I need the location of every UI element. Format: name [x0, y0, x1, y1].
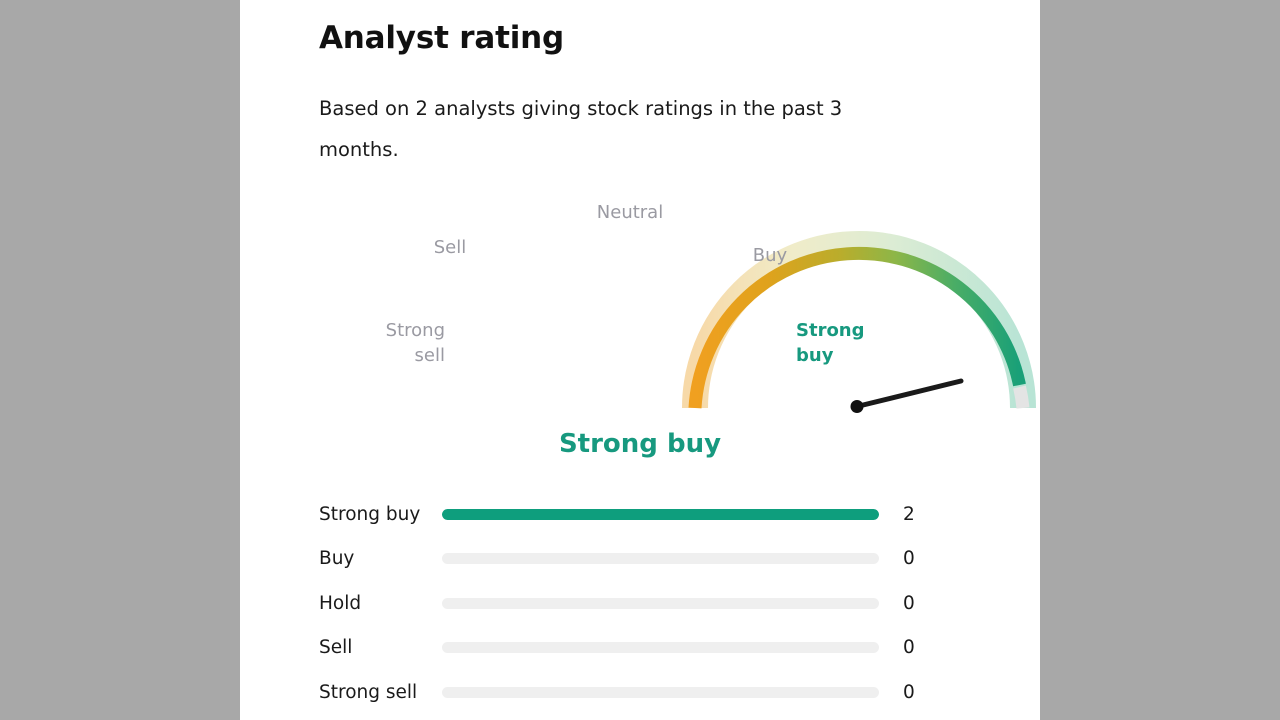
rating-row-strong-buy: Strong buy 2 [319, 492, 969, 537]
gauge-verdict-label: Strong buy [240, 429, 1040, 459]
rating-row-buy: Buy 0 [319, 537, 969, 582]
rating-count: 2 [903, 504, 915, 525]
rating-label: Strong buy [319, 504, 442, 525]
gauge-tick-strong-buy-line2: buy [796, 343, 906, 368]
gauge-tick-strong-sell-line1: Strong [335, 318, 445, 343]
gauge-tick-buy: Buy [730, 243, 810, 268]
rating-label: Buy [319, 548, 442, 569]
rating-bar-track [442, 642, 879, 653]
rating-row-strong-sell: Strong sell 0 [319, 670, 969, 715]
rating-count: 0 [903, 548, 915, 569]
gauge-tick-strong-buy-line1: Strong [796, 318, 906, 343]
rating-count: 0 [903, 682, 915, 703]
gauge-tick-strong-sell-line2: sell [335, 343, 445, 368]
gauge-tick-neutral: Neutral [560, 200, 700, 225]
rating-label: Hold [319, 593, 442, 614]
rating-label: Sell [319, 637, 442, 658]
rating-bar-track [442, 687, 879, 698]
analyst-rating-card: Analyst rating Based on 2 analysts givin… [240, 0, 1040, 720]
rating-row-sell: Sell 0 [319, 626, 969, 671]
rating-breakdown-list: Strong buy 2 Buy 0 Hold 0 [319, 492, 969, 715]
rating-count: 0 [903, 593, 915, 614]
gauge-arc-remainder [1020, 387, 1024, 408]
rating-bar-track [442, 553, 879, 564]
page-subtitle: Based on 2 analysts giving stock ratings… [319, 88, 889, 170]
rating-count: 0 [903, 637, 915, 658]
rating-bar-track [442, 598, 879, 609]
rating-label: Strong sell [319, 682, 442, 703]
rating-bar-fill [442, 509, 879, 520]
analyst-rating-gauge: Strong sell Sell Neutral Buy Strong buy … [240, 185, 1040, 475]
page-root: Analyst rating Based on 2 analysts givin… [0, 0, 1280, 720]
gauge-tick-strong-buy: Strong buy [796, 318, 906, 368]
gauge-needle [851, 381, 962, 413]
gauge-tick-strong-sell: Strong sell [335, 318, 445, 368]
rating-row-hold: Hold 0 [319, 581, 969, 626]
page-title: Analyst rating [319, 20, 564, 57]
gauge-tick-sell: Sell [410, 235, 490, 260]
rating-bar-track [442, 509, 879, 520]
